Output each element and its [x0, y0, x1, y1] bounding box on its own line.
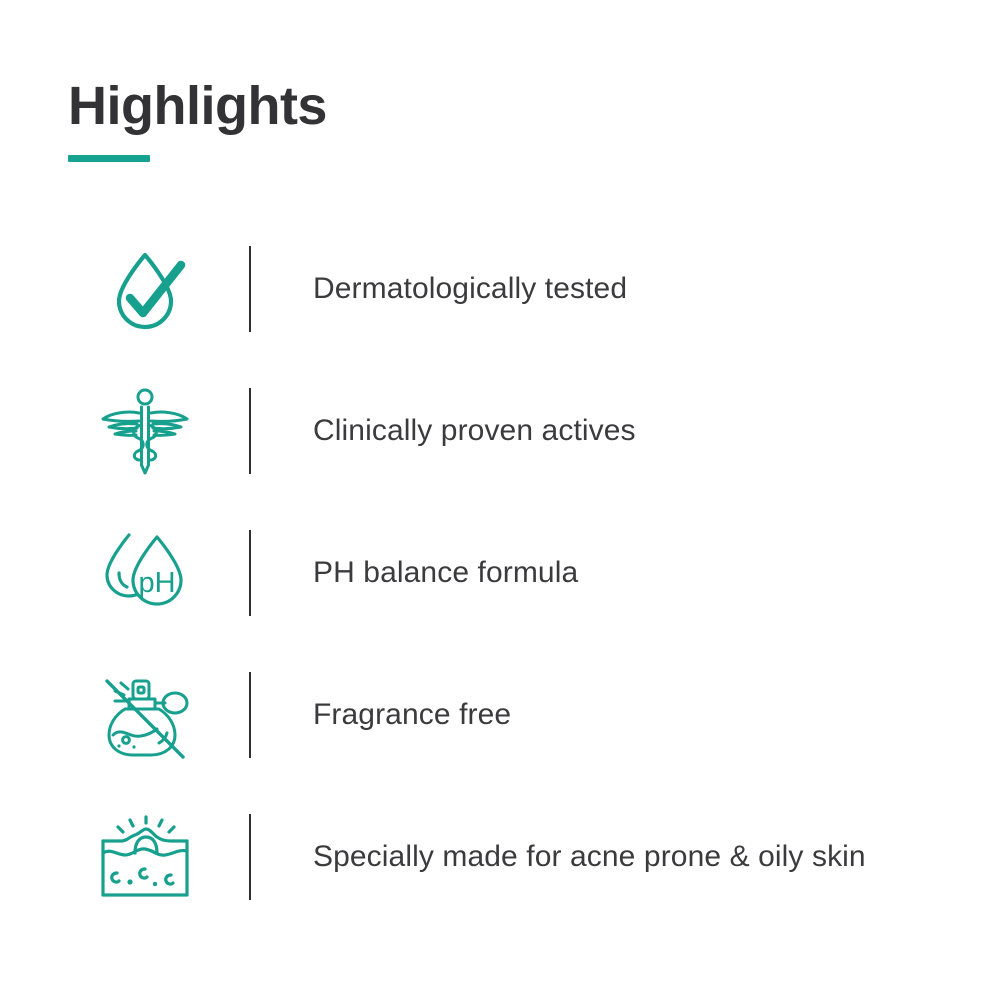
perfume-bottle-no-icon: [70, 665, 220, 765]
highlights-panel: Highlights Dermatologically tested: [0, 0, 1000, 1000]
row-divider: [249, 388, 251, 474]
label-cell: Fragrance free: [313, 697, 1000, 733]
caduceus-icon: [70, 381, 220, 481]
list-item-label: Specially made for acne prone & oily ski…: [313, 839, 1000, 875]
ph-icon-text: pH: [138, 567, 175, 599]
row-divider: [249, 814, 251, 900]
row-divider: [249, 530, 251, 616]
list-item: Fragrance free: [0, 644, 1000, 786]
list-item-label: Fragrance free: [313, 697, 1000, 733]
ph-droplets-icon: pH: [70, 523, 220, 623]
label-cell: Specially made for acne prone & oily ski…: [313, 839, 1000, 875]
list-item-label: Clinically proven actives: [313, 413, 1000, 449]
label-cell: PH balance formula: [313, 555, 1000, 591]
row-divider: [249, 672, 251, 758]
list-item: Clinically proven actives: [0, 360, 1000, 502]
row-divider: [249, 246, 251, 332]
highlights-list: Dermatologically tested: [0, 218, 1000, 928]
list-item-label: Dermatologically tested: [313, 271, 1000, 307]
list-item: Specially made for acne prone & oily ski…: [0, 786, 1000, 928]
droplet-check-icon: [70, 241, 220, 337]
list-item-label: PH balance formula: [313, 555, 1000, 591]
page-title: Highlights: [68, 78, 327, 135]
header: Highlights: [68, 78, 327, 162]
skin-cross-section-icon: [70, 807, 220, 907]
list-item: pH PH balance formula: [0, 502, 1000, 644]
title-accent-bar: [68, 155, 150, 162]
list-item: Dermatologically tested: [0, 218, 1000, 360]
label-cell: Clinically proven actives: [313, 413, 1000, 449]
label-cell: Dermatologically tested: [313, 271, 1000, 307]
